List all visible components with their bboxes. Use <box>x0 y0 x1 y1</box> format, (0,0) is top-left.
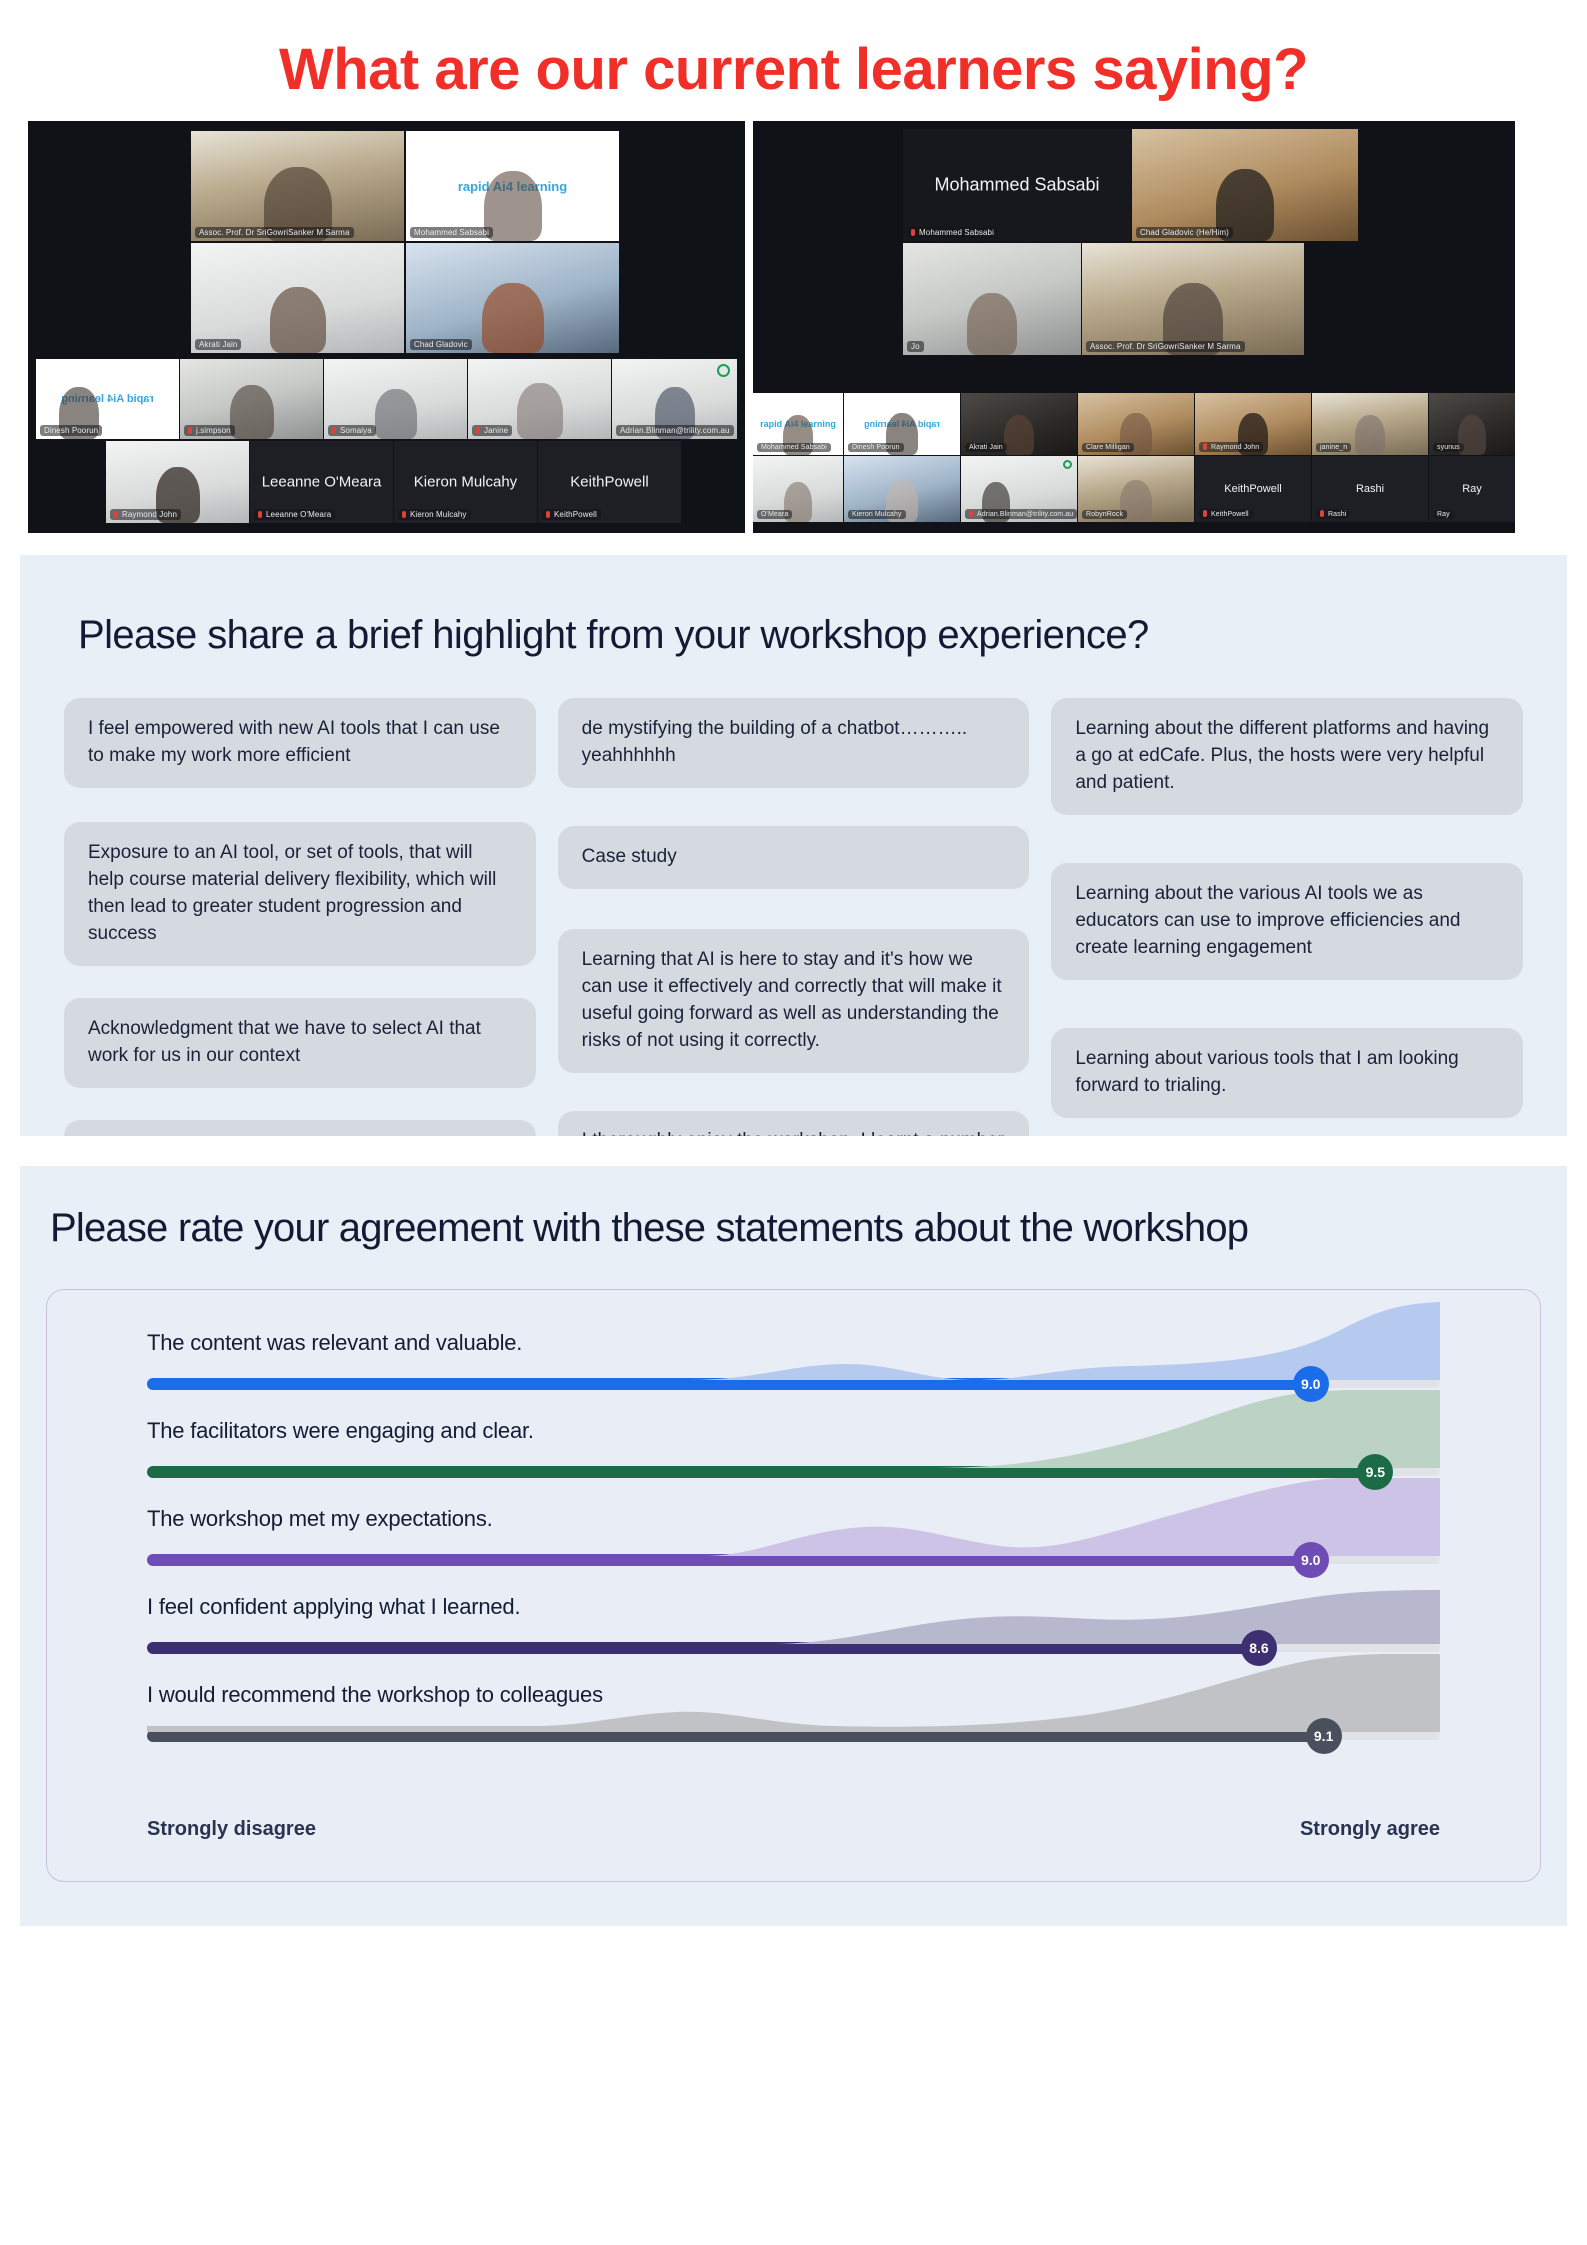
participant-name: Kieron Mulcahy <box>848 510 906 519</box>
response-card: Learning about the different platforms a… <box>1051 698 1523 815</box>
video-tile: Raymond John <box>1195 393 1311 455</box>
rating-row: The workshop met my expectations. 9.0 <box>47 1500 1540 1588</box>
rating-track[interactable]: 9.1 <box>147 1730 1440 1742</box>
participant-name: Akrati Jain <box>965 443 1007 452</box>
ratings-chart: The content was relevant and valuable. 9… <box>46 1289 1541 1882</box>
rating-value-badge: 9.0 <box>1293 1366 1329 1402</box>
video-tile: janine_n <box>1312 393 1428 455</box>
rating-track[interactable]: 9.0 <box>147 1378 1440 1390</box>
participant-initial-name: Rashi <box>1312 483 1428 495</box>
highlights-panel: Please share a brief highlight from your… <box>20 555 1567 1136</box>
participant-initial-name: KeithPowell <box>1195 483 1311 495</box>
video-tile: Clare Milligan <box>1078 393 1194 455</box>
response-card: Learning that AI is here to stay and it'… <box>558 929 1030 1073</box>
video-tile: Rashi Rashi <box>1312 456 1428 522</box>
participant-name: Jo <box>907 341 924 352</box>
video-tile: Ray Ray <box>1429 456 1515 522</box>
video-tile: Adrian.Blinman@trility.com.au <box>612 359 737 439</box>
participant-name: Raymond John <box>110 509 181 520</box>
participant-name: RobynRock <box>1082 510 1127 519</box>
participant-name: Mohammed Sabsabi <box>757 443 831 452</box>
video-tile: Kieron Mulcahy <box>844 456 960 522</box>
participant-name: KeithPowell <box>1199 509 1253 519</box>
track-fill <box>147 1466 1375 1478</box>
video-tile: j.simpson <box>180 359 323 439</box>
participant-name: Assoc. Prof. Dr SriGowriSanker M Sarma <box>1086 341 1245 352</box>
rating-value-badge: 9.1 <box>1306 1718 1342 1754</box>
participant-name: Dinesh Poorun <box>40 425 102 436</box>
highlights-question: Please share a brief highlight from your… <box>20 555 1567 698</box>
scale-min-label: Strongly disagree <box>147 1818 316 1841</box>
rating-row: I feel confident applying what I learned… <box>47 1588 1540 1676</box>
participant-initial-name: Ray <box>1429 483 1515 495</box>
rating-statement: I feel confident applying what I learned… <box>147 1594 520 1620</box>
video-tile: Akrati Jain <box>191 243 404 353</box>
rating-statement: The facilitators were engaging and clear… <box>147 1418 534 1444</box>
participant-name: Raymond John <box>1199 442 1263 452</box>
rating-track[interactable]: 8.6 <box>147 1642 1440 1654</box>
rating-statement: I would recommend the workshop to collea… <box>147 1682 603 1708</box>
participant-name: Chad Gladovic <box>410 339 472 350</box>
participant-name: Adrian.Blinman@trility.com.au <box>616 425 734 436</box>
participant-initial-name: Kieron Mulcahy <box>394 474 537 491</box>
video-tile: Janine <box>468 359 611 439</box>
video-tile-active-speaker: Chad Gladovic (He/Him) <box>1132 129 1358 241</box>
response-card: Exposure to an AI tool, or set of tools,… <box>64 822 536 966</box>
highlights-column-1: I feel empowered with new AI tools that … <box>64 698 536 1136</box>
video-tile-active-speaker: Chad Gladovic <box>406 243 619 353</box>
meeting-screenshots-strip: Assoc. Prof. Dr SriGowriSanker M Sarma r… <box>28 121 1559 533</box>
participant-name: Akrati Jain <box>195 339 241 350</box>
video-tile: Akrati Jain <box>961 393 1077 455</box>
track-fill <box>147 1730 1324 1742</box>
track-fill <box>147 1642 1259 1654</box>
video-tile: Somaiya <box>324 359 467 439</box>
participant-name: Chad Gladovic (He/Him) <box>1136 227 1233 238</box>
video-tile: Adrian.Blinman@trility.com.au <box>961 456 1077 522</box>
response-card: I feel empowered with new AI tools that … <box>64 698 536 788</box>
rating-statement: The content was relevant and valuable. <box>147 1330 522 1356</box>
participant-initial-name: Leeanne O'Meara <box>250 474 393 491</box>
video-tile: syunus <box>1429 393 1515 455</box>
scale-labels: Strongly disagree Strongly agree <box>47 1764 1540 1841</box>
video-tile: KeithPowell KeithPowell <box>538 441 681 523</box>
rating-row: The facilitators were engaging and clear… <box>47 1412 1540 1500</box>
page-title: What are our current learners saying? <box>0 0 1587 121</box>
highlights-column-2: de mystifying the building of a chatbot…… <box>558 698 1030 1136</box>
participant-name: Mohammed Sabsabi <box>907 227 998 238</box>
video-tile: Leeanne O'Meara Leeanne O'Meara <box>250 441 393 523</box>
rating-track[interactable]: 9.5 <box>147 1466 1440 1478</box>
highlights-column-3: Learning about the different platforms a… <box>1051 698 1523 1136</box>
track-fill <box>147 1554 1311 1566</box>
participant-name: Assoc. Prof. Dr SriGowriSanker M Sarma <box>195 227 354 238</box>
response-card: Acknowledgment that we have to select AI… <box>64 998 536 1088</box>
trility-logo <box>717 364 730 377</box>
participant-name: O'Meara <box>757 510 792 519</box>
response-card: I thoroughly enjoy the workshop. I learn… <box>558 1111 1030 1136</box>
participant-name: Adrian.Blinman@trility.com.au <box>965 509 1077 519</box>
video-tile: Assoc. Prof. Dr SriGowriSanker M Sarma <box>191 131 404 241</box>
participant-name: Clare Milligan <box>1082 443 1134 452</box>
rating-statement: The workshop met my expectations. <box>147 1506 493 1532</box>
video-tile: Assoc. Prof. Dr SriGowriSanker M Sarma <box>1082 243 1304 355</box>
video-tile-spotlight: Mohammed Sabsabi Mohammed Sabsabi <box>903 129 1131 241</box>
video-tile: rapid Ai4 learning Mohammed Sabsabi <box>406 131 619 241</box>
track-fill <box>147 1378 1311 1390</box>
video-tile: O'Meara <box>753 456 843 522</box>
rating-value-badge: 9.5 <box>1357 1454 1393 1490</box>
video-tile: rapid Ai4 learning Mohammed Sabsabi <box>753 393 843 455</box>
zoom-screenshot-right: You are screen sharing Stop share Mohamm… <box>753 121 1515 533</box>
participant-name: j.simpson <box>184 425 235 436</box>
scale-max-label: Strongly agree <box>1300 1818 1440 1841</box>
video-tile: RobynRock <box>1078 456 1194 522</box>
video-tile: rapid Ai4 learning Dinesh Poorun <box>36 359 179 439</box>
video-tile: rapid Ai4 learning Dinesh Poorun <box>844 393 960 455</box>
rating-value-badge: 8.6 <box>1241 1630 1277 1666</box>
rating-row: I would recommend the workshop to collea… <box>47 1676 1540 1764</box>
response-card: de mystifying the building of a chatbot…… <box>558 698 1030 788</box>
rating-row: The content was relevant and valuable. 9… <box>47 1324 1540 1412</box>
participant-name: Kieron Mulcahy <box>398 509 471 520</box>
video-tile: Jo <box>903 243 1081 355</box>
response-card: Case study <box>558 826 1030 889</box>
response-card: learning about jobs <box>64 1120 536 1136</box>
participant-name: Janine <box>472 425 512 436</box>
rating-track[interactable]: 9.0 <box>147 1554 1440 1566</box>
participant-name: KeithPowell <box>542 509 601 520</box>
participant-name: Rashi <box>1316 509 1350 519</box>
highlights-columns: I feel empowered with new AI tools that … <box>20 698 1567 1136</box>
video-tile: KeithPowell KeithPowell <box>1195 456 1311 522</box>
participant-name: Ray <box>1433 510 1454 519</box>
participant-name: Mohammed Sabsabi <box>410 227 493 238</box>
ratings-panel: Please rate your agreement with these st… <box>20 1166 1567 1926</box>
ratings-question: Please rate your agreement with these st… <box>20 1166 1567 1289</box>
response-card: Learning about the various AI tools we a… <box>1051 863 1523 980</box>
video-tile: Raymond John <box>106 441 249 523</box>
participant-name: syunus <box>1433 443 1464 452</box>
participant-name: Somaiya <box>328 425 376 436</box>
participant-name: Dinesh Poorun <box>848 443 904 452</box>
participant-name: Leeanne O'Meara <box>254 509 335 520</box>
rating-value-badge: 9.0 <box>1293 1542 1329 1578</box>
zoom-screenshot-left: Assoc. Prof. Dr SriGowriSanker M Sarma r… <box>28 121 745 533</box>
participant-name: janine_n <box>1316 443 1351 452</box>
video-tile: Kieron Mulcahy Kieron Mulcahy <box>394 441 537 523</box>
spotlight-name: Mohammed Sabsabi <box>903 175 1131 196</box>
participant-initial-name: KeithPowell <box>538 474 681 491</box>
response-card: Learning about various tools that I am l… <box>1051 1028 1523 1118</box>
